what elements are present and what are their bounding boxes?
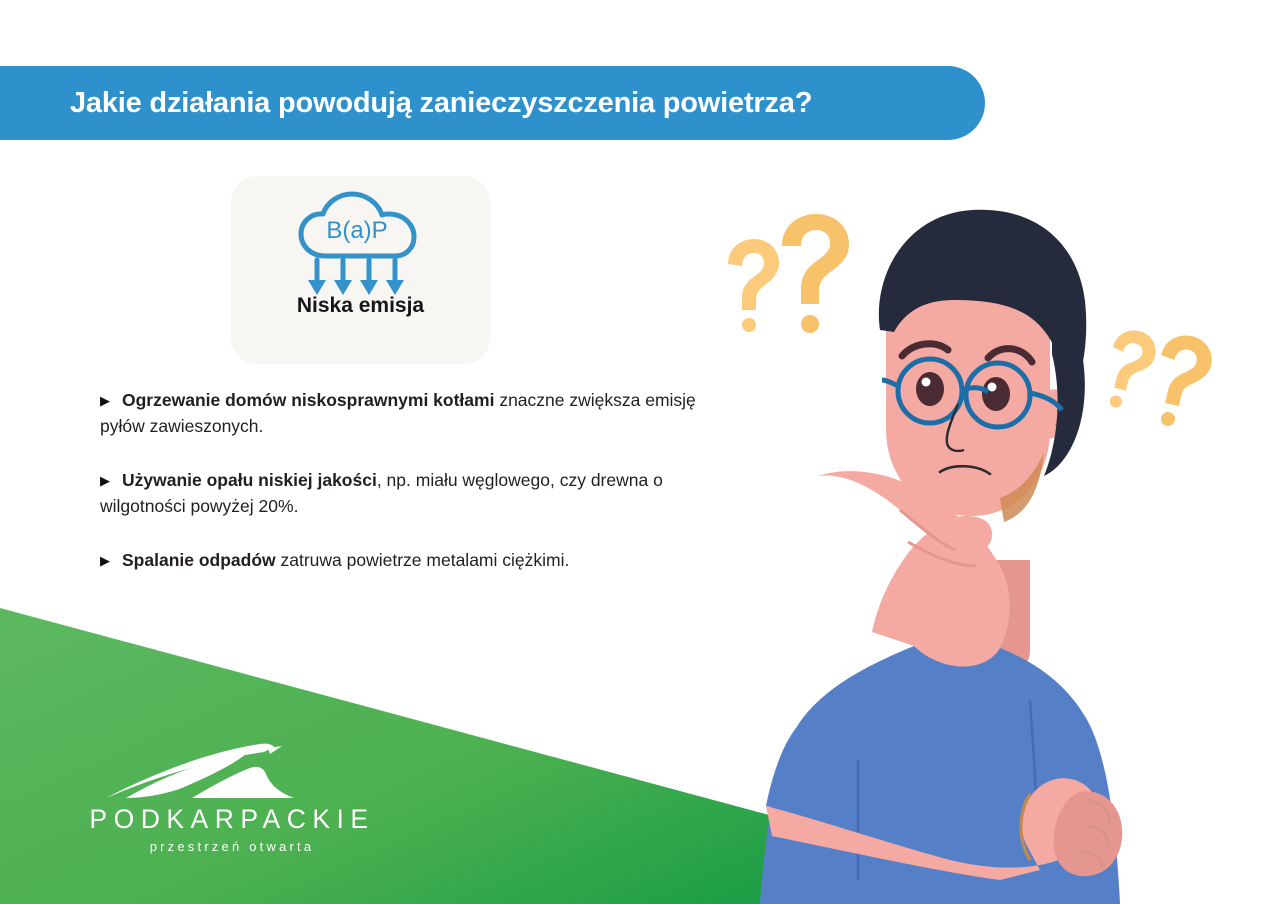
logo-mark-icon: [82, 742, 382, 802]
low-emission-card: B(a)P Niska emisja: [231, 176, 490, 364]
page-title: Jakie działania powodują zanieczyszczeni…: [70, 87, 812, 120]
logo-wordmark: PODKARPACKIE: [82, 804, 382, 835]
bullet-marker-icon: ▶: [100, 551, 122, 570]
question-mark-icon: [1147, 331, 1216, 433]
question-mark-icon: [1099, 326, 1160, 414]
cloud-label: B(a)P: [326, 217, 387, 244]
thinking-man-illustration: [700, 180, 1240, 904]
logo-tagline: przestrzeń otwarta: [82, 839, 382, 854]
list-item: ▶Ogrzewanie domów niskosprawnymi kotłami…: [100, 388, 720, 440]
bullet-bold-text: Używanie opału niskiej jakości: [122, 470, 377, 490]
poster-canvas: Jakie działania powodują zanieczyszczeni…: [0, 0, 1280, 904]
bullet-marker-icon: ▶: [100, 471, 122, 490]
emission-cloud-icon: B(a)P: [281, 190, 441, 300]
card-caption: Niska emisja: [231, 294, 490, 318]
header-banner: Jakie działania powodują zanieczyszczeni…: [0, 66, 985, 140]
question-mark-icon: [728, 239, 779, 332]
podkarpackie-logo: PODKARPACKIE przestrzeń otwarta: [82, 742, 382, 864]
bullet-bold-text: Spalanie odpadów: [122, 550, 276, 570]
question-mark-icon: [782, 214, 849, 333]
cloud-icon-wrap: B(a)P: [231, 190, 490, 300]
list-item: ▶Używanie opału niskiej jakości, np. mia…: [100, 468, 720, 520]
list-item: ▶Spalanie odpadów zatruwa powietrze meta…: [100, 548, 720, 574]
bullet-marker-icon: ▶: [100, 391, 122, 410]
bullet-rest-text: zatruwa powietrze metalami ciężkimi.: [276, 550, 570, 570]
bullet-list: ▶Ogrzewanie domów niskosprawnymi kotłami…: [100, 388, 720, 573]
bullet-bold-text: Ogrzewanie domów niskosprawnymi kotłami: [122, 390, 494, 410]
